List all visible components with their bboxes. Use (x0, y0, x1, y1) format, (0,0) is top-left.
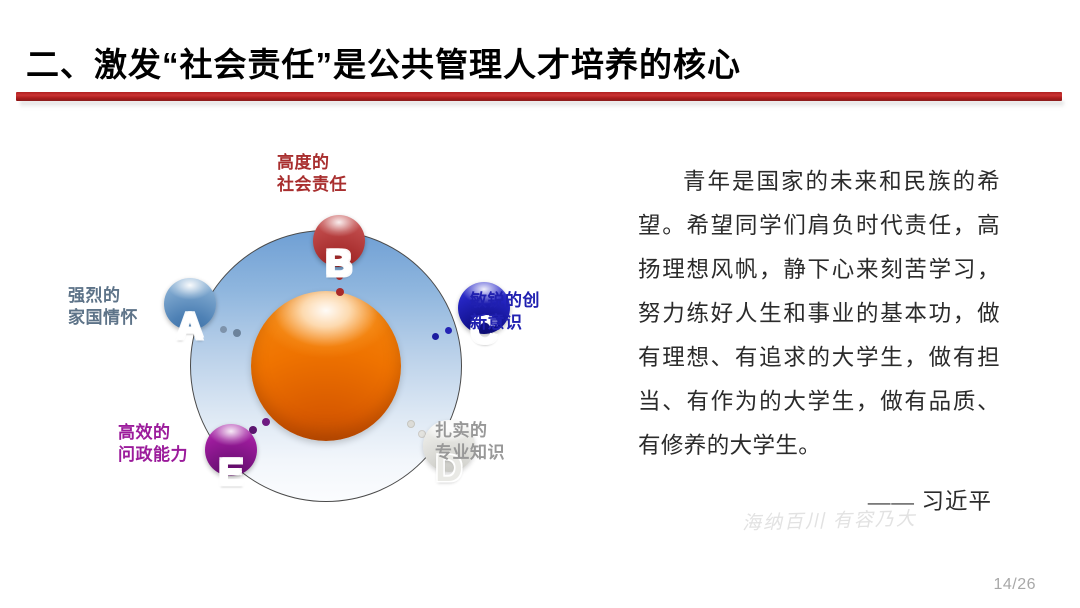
node-d-label: 扎实的 专业知识 (435, 420, 505, 464)
connector-dot (336, 288, 344, 296)
connector-dot (233, 329, 241, 337)
connector-dot (220, 326, 227, 333)
node-e-label: 高效的 问政能力 (118, 422, 188, 466)
node-a-glyph: A (164, 308, 216, 346)
five-competency-orbit-diagram: A B C D E 高度的 社会责任 强烈的 家国情怀 敏锐的创 新意识 扎实的… (40, 130, 600, 530)
title-divider-bar (16, 92, 1062, 101)
node-c-label: 敏锐的创 新意识 (470, 290, 540, 334)
node-e-glyph: E (205, 454, 257, 492)
quote-block: 青年是国家的未来和民族的希望。希望同学们肩负时代责任，高扬理想风帆，静下心来刻苦… (638, 160, 1000, 516)
slide-canvas: 二、激发“社会责任”是公共管理人才培养的核心 A B C (0, 0, 1080, 608)
node-b-glyph: B (313, 245, 365, 283)
page-number: 14/26 (993, 576, 1036, 594)
title-divider-shadow (20, 101, 1064, 108)
node-b-sphere[interactable]: B (313, 215, 365, 267)
connector-dot (262, 418, 270, 426)
node-a-label: 强烈的 家国情怀 (68, 285, 138, 329)
page-title: 二、激发“社会责任”是公共管理人才培养的核心 (26, 38, 741, 86)
core-sphere-icon (251, 291, 401, 441)
node-a-sphere[interactable]: A (164, 278, 216, 330)
connector-dot (432, 333, 439, 340)
watermark: 海纳百川 有容乃大 (742, 504, 917, 536)
node-b-label: 高度的 社会责任 (277, 152, 347, 196)
quote-text: 青年是国家的未来和民族的希望。希望同学们肩负时代责任，高扬理想风帆，静下心来刻苦… (638, 160, 1000, 468)
connector-dot (445, 327, 452, 334)
connector-dot (407, 420, 415, 428)
node-e-sphere[interactable]: E (205, 424, 257, 476)
